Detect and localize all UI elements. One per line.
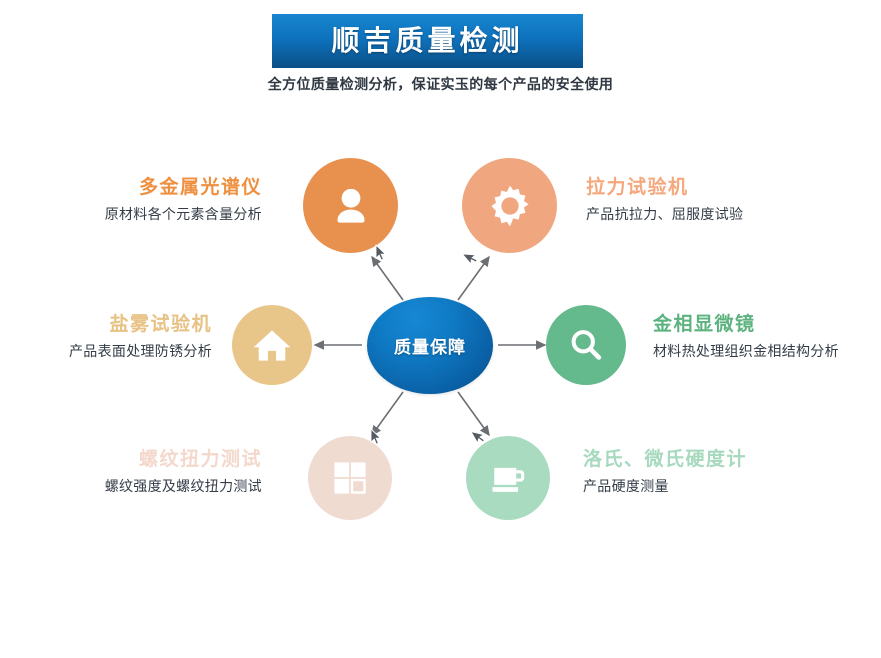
bubble-spectrometer[interactable] — [303, 158, 398, 253]
node-text-hardness-tester: 洛氏、微氏硬度计 产品硬度测量 — [583, 448, 873, 498]
bubble-salt-spray-tester[interactable] — [232, 305, 312, 385]
node-title-spectrometer: 多金属光谱仪 — [0, 176, 262, 200]
center-node[interactable]: 质量保障 — [367, 297, 493, 394]
node-desc-hardness-tester: 产品硬度测量 — [583, 477, 873, 498]
node-text-tensile-tester: 拉力试验机 产品抗拉力、屈服度试验 — [586, 176, 876, 226]
node-text-salt-spray-tester: 盐雾试验机 产品表面处理防锈分析 — [0, 313, 212, 363]
node-desc-metallographic-microscope: 材料热处理组织金相结构分析 — [653, 342, 881, 363]
arrow-to-spectrometer — [372, 257, 403, 300]
mug-icon — [486, 456, 530, 500]
mouse-cursor-tertiary — [370, 428, 382, 445]
bubble-hardness-tester[interactable] — [466, 436, 550, 520]
center-node-label: 质量保障 — [394, 333, 466, 358]
node-desc-tensile-tester: 产品抗拉力、屈服度试验 — [586, 205, 876, 226]
node-text-metallographic-microscope: 金相显微镜 材料热处理组织金相结构分析 — [653, 313, 881, 363]
node-title-metallographic-microscope: 金相显微镜 — [653, 313, 881, 337]
bubble-metallographic-microscope[interactable] — [546, 305, 626, 385]
gear-icon — [485, 181, 535, 231]
node-desc-spectrometer: 原材料各个元素含量分析 — [0, 205, 262, 226]
home-icon — [250, 323, 294, 367]
quality-inspection-diagram: 质量保障 多金属光谱仪 原材料各个元素含量分析 拉力试验机 产品抗拉力、屈服度试… — [0, 0, 881, 658]
node-desc-thread-torque-test: 螺纹强度及螺纹扭力测试 — [0, 477, 262, 498]
bubble-tensile-tester[interactable] — [462, 158, 557, 253]
person-icon — [326, 181, 376, 231]
node-title-thread-torque-test: 螺纹扭力测试 — [0, 448, 262, 472]
search-icon — [564, 323, 608, 367]
node-title-tensile-tester: 拉力试验机 — [586, 176, 876, 200]
mouse-cursor — [375, 244, 387, 261]
bubble-thread-torque-test[interactable] — [308, 436, 392, 520]
node-text-spectrometer: 多金属光谱仪 原材料各个元素含量分析 — [0, 176, 262, 226]
grid-icon — [328, 456, 372, 500]
node-text-thread-torque-test: 螺纹扭力测试 螺纹强度及螺纹扭力测试 — [0, 448, 262, 498]
node-title-hardness-tester: 洛氏、微氏硬度计 — [583, 448, 873, 472]
node-desc-salt-spray-tester: 产品表面处理防锈分析 — [0, 342, 212, 363]
node-title-salt-spray-tester: 盐雾试验机 — [0, 313, 212, 337]
